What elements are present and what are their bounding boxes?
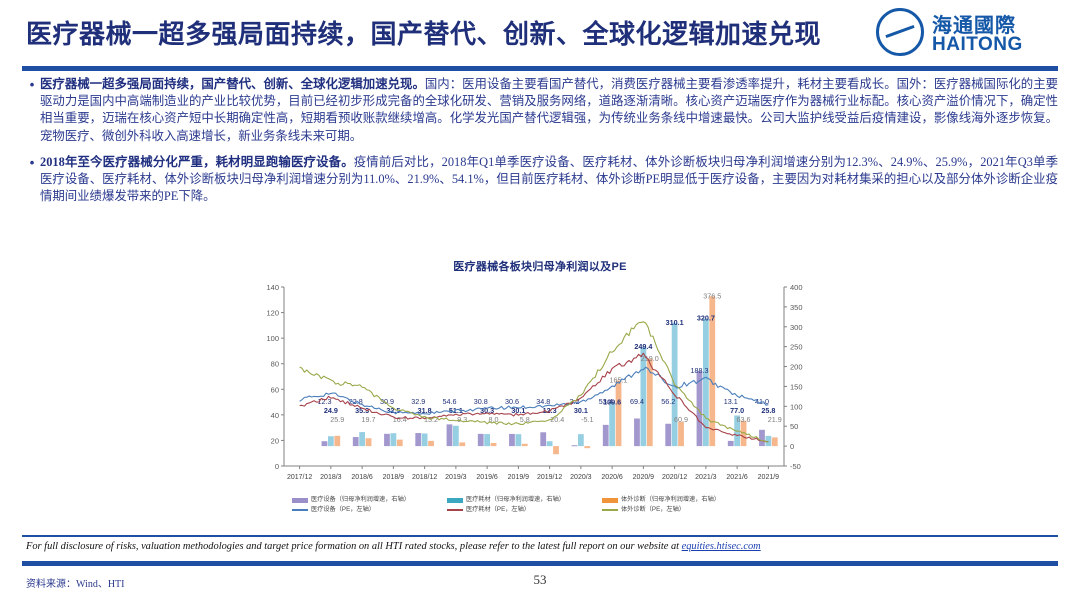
svg-text:21.9: 21.9 <box>768 415 782 424</box>
svg-text:320.7: 320.7 <box>697 314 715 323</box>
svg-text:13.1: 13.1 <box>724 397 738 406</box>
legend-label: 体外诊断（PE，左轴） <box>621 505 685 515</box>
disclosure-link[interactable]: equities.htisec.com <box>682 541 761 552</box>
legend-row-lines: 医疗设备（PE，左轴） 医疗耗材（PE，左轴） 体外诊断（PE，左轴） <box>292 505 830 515</box>
legend-label: 医疗耗材（PE，左轴） <box>466 505 530 515</box>
svg-text:310.1: 310.1 <box>666 318 684 327</box>
legend-item-consumable-pe: 医疗耗材（PE，左轴） <box>447 505 602 515</box>
svg-text:63.6: 63.6 <box>737 415 751 424</box>
page-title: 医疗器械一超多强局面持续，国产替代、创新、全球化逻辑加速兑现 <box>26 14 926 56</box>
legend-swatch-icon <box>292 509 308 511</box>
legend-swatch-icon <box>447 509 463 511</box>
bullet-marker-icon: • <box>24 154 40 206</box>
chart-container: 医疗器械各板块归母净利润以及PE 020406080100120140-5005… <box>250 258 830 536</box>
footer-divider-top <box>22 535 1058 537</box>
legend-swatch-icon <box>292 498 308 503</box>
haitong-circle-logo-icon <box>876 8 924 56</box>
svg-text:2020/12: 2020/12 <box>662 474 687 481</box>
svg-text:80: 80 <box>271 360 279 369</box>
bullet-1-text: 医疗器械一超多强局面持续，国产替代、创新、全球化逻辑加速兑现。国内：医用设备主要… <box>40 76 1058 145</box>
svg-text:2018/6: 2018/6 <box>351 474 373 481</box>
chart-legend: 医疗设备（归母净利润增速，右轴） 医疗耗材（归母净利润增速，右轴） 体外诊断（归… <box>250 495 830 515</box>
svg-text:250: 250 <box>790 343 803 352</box>
page-number: 53 <box>0 572 1080 588</box>
svg-text:2019/12: 2019/12 <box>537 474 562 481</box>
svg-text:188.3: 188.3 <box>690 366 708 375</box>
legend-item-consumable-growth: 医疗耗材（归母净利润增速，右轴） <box>447 495 602 505</box>
legend-label: 医疗耗材（归母净利润增速，右轴） <box>466 495 565 505</box>
svg-text:24.9: 24.9 <box>324 406 338 415</box>
haitong-logo: 海通國際 HAITONG <box>876 6 1066 58</box>
svg-text:-50: -50 <box>790 462 801 471</box>
svg-text:19.7: 19.7 <box>362 415 376 424</box>
svg-text:60.9: 60.9 <box>674 415 688 424</box>
legend-item-ivd-growth: 体外诊断（归母净利润增速，右轴） <box>602 495 757 505</box>
svg-text:249.4: 249.4 <box>634 342 652 351</box>
svg-text:25.8: 25.8 <box>761 406 775 415</box>
svg-text:150: 150 <box>790 382 803 391</box>
svg-text:69.4: 69.4 <box>630 397 644 406</box>
svg-text:20: 20 <box>271 436 279 445</box>
svg-text:50: 50 <box>790 422 798 431</box>
svg-text:2021/3: 2021/3 <box>695 474 717 481</box>
legend-label: 医疗设备（归母净利润增速，右轴） <box>311 495 410 505</box>
svg-text:120: 120 <box>266 309 279 318</box>
svg-text:30.9: 30.9 <box>380 397 394 406</box>
legend-swatch-icon <box>602 509 618 511</box>
legend-swatch-icon <box>602 498 618 503</box>
svg-text:2018/9: 2018/9 <box>383 474 405 481</box>
bullet-item-1: • 医疗器械一超多强局面持续，国产替代、创新、全球化逻辑加速兑现。国内：医用设备… <box>24 76 1058 145</box>
legend-item-ivd-pe: 体外诊断（PE，左轴） <box>602 505 757 515</box>
svg-text:2017/12: 2017/12 <box>287 474 312 481</box>
chart-svg: 020406080100120140-500501001502002503003… <box>250 277 830 492</box>
legend-row-bars: 医疗设备（归母净利润增速，右轴） 医疗耗材（归母净利润增速，右轴） 体外诊断（归… <box>292 495 830 505</box>
disclosure-text: For full disclosure of risks, valuation … <box>26 540 1046 554</box>
svg-text:2021/6: 2021/6 <box>726 474 748 481</box>
svg-text:140: 140 <box>266 283 279 292</box>
bullet-marker-icon: • <box>24 76 40 145</box>
svg-text:30.1: 30.1 <box>574 406 588 415</box>
svg-text:25.9: 25.9 <box>330 415 344 424</box>
footer-divider-bottom <box>22 561 1058 566</box>
svg-text:2018/12: 2018/12 <box>412 474 437 481</box>
svg-text:2018/3: 2018/3 <box>320 474 342 481</box>
svg-text:56.2: 56.2 <box>661 397 675 406</box>
svg-text:40: 40 <box>271 411 279 420</box>
logo-english-name: HAITONG <box>932 34 1023 56</box>
disclosure-sentence: For full disclosure of risks, valuation … <box>26 541 682 552</box>
body-content: • 医疗器械一超多强局面持续，国产替代、创新、全球化逻辑加速兑现。国内：医用设备… <box>24 76 1058 214</box>
chart-title: 医疗器械各板块归母净利润以及PE <box>250 258 830 274</box>
svg-text:2019/9: 2019/9 <box>508 474 530 481</box>
legend-item-device-growth: 医疗设备（归母净利润增速，右轴） <box>292 495 447 505</box>
svg-text:350: 350 <box>790 303 803 312</box>
legend-item-device-pe: 医疗设备（PE，左轴） <box>292 505 447 515</box>
svg-text:109.6: 109.6 <box>603 398 621 407</box>
svg-text:60: 60 <box>271 385 279 394</box>
svg-text:100: 100 <box>266 334 279 343</box>
svg-text:77.0: 77.0 <box>730 406 744 415</box>
svg-text:2019/6: 2019/6 <box>476 474 498 481</box>
svg-text:2020/3: 2020/3 <box>570 474 592 481</box>
legend-swatch-icon <box>447 498 463 503</box>
legend-label: 体外诊断（归母净利润增速，右轴） <box>621 495 720 505</box>
svg-text:0: 0 <box>790 442 794 451</box>
svg-text:30.8: 30.8 <box>474 397 488 406</box>
svg-text:100: 100 <box>790 402 803 411</box>
svg-text:2020/6: 2020/6 <box>601 474 623 481</box>
svg-text:30.6: 30.6 <box>505 397 519 406</box>
svg-text:2021/9: 2021/9 <box>758 474 780 481</box>
bullet-2-text: 2018年至今医疗器械分化严重，耗材明显跑输医疗设备。疫情前后对比，2018年Q… <box>40 154 1058 206</box>
svg-text:13.2: 13.2 <box>424 415 438 424</box>
svg-text:400: 400 <box>790 283 803 292</box>
header-divider <box>22 66 1058 71</box>
bullet-1-lead: 医疗器械一超多强局面持续，国产替代、创新、全球化逻辑加速兑现。 <box>40 77 425 91</box>
svg-text:376.5: 376.5 <box>703 291 721 300</box>
svg-text:34.8: 34.8 <box>536 397 550 406</box>
svg-text:-5.1: -5.1 <box>581 415 593 424</box>
svg-text:54.6: 54.6 <box>442 397 456 406</box>
svg-text:9.3: 9.3 <box>457 415 467 424</box>
legend-label: 医疗设备（PE，左轴） <box>311 505 375 515</box>
svg-text:0: 0 <box>275 462 279 471</box>
svg-text:32.9: 32.9 <box>411 397 425 406</box>
svg-text:300: 300 <box>790 323 803 332</box>
svg-text:2019/3: 2019/3 <box>445 474 467 481</box>
bullet-item-2: • 2018年至今医疗器械分化严重，耗材明显跑输医疗设备。疫情前后对比，2018… <box>24 154 1058 206</box>
chart-plot-area: 020406080100120140-500501001502002503003… <box>250 277 830 492</box>
svg-text:200: 200 <box>790 363 803 372</box>
svg-text:2020/9: 2020/9 <box>633 474 655 481</box>
bullet-2-lead: 2018年至今医疗器械分化严重，耗材明显跑输医疗设备。 <box>40 155 354 169</box>
